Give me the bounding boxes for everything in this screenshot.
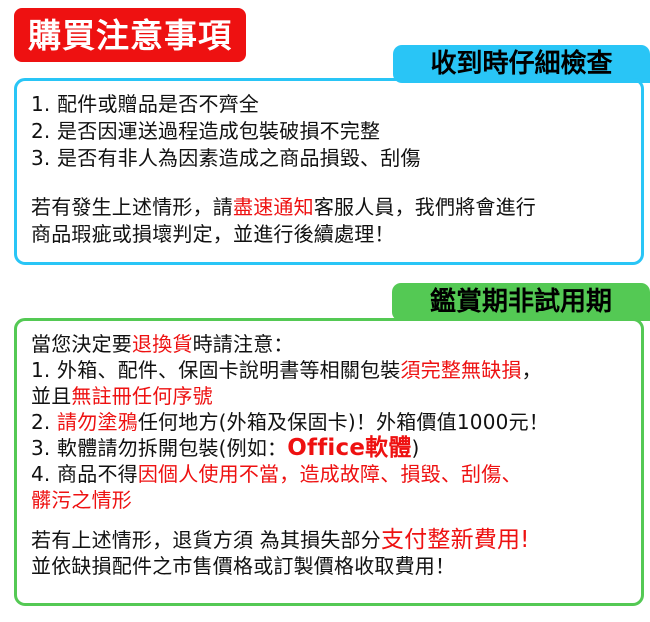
item1-highlight-1: 須完整無缺損	[400, 358, 521, 382]
intro-highlight: 退換貨	[132, 332, 193, 356]
inspection-note-line-2: 商品瑕疵或損壞判定，並進行後續處理！	[31, 221, 627, 248]
section-tag-trial-period: 鑑賞期非試用期	[392, 283, 650, 321]
footer-highlight: 支付整新費用!	[381, 527, 530, 553]
footer-text-a: 若有上述情形，退貨方須 為其損失部分	[31, 528, 381, 552]
page-title: 購買注意事項	[28, 19, 232, 52]
return-intro-line: 當您決定要退換貨時請注意：	[31, 331, 627, 357]
inspection-note-line-1: 若有發生上述情形，請盡速通知客服人員，我們將會進行	[31, 194, 627, 221]
section-tag-trial-period-label: 鑑賞期非試用期	[430, 289, 612, 315]
item1-text-b: ，	[522, 358, 542, 382]
note-text-b: 客服人員，我們將會進行	[314, 195, 536, 219]
note-highlight: 盡速通知	[233, 195, 314, 219]
item2-text-a: 2.	[31, 410, 57, 434]
intro-text-a: 當您決定要	[31, 332, 132, 356]
item3-text-a: 3. 軟體請勿拆開包裝(例如：	[31, 436, 287, 460]
return-item-1-line-2: 並且無註冊任何序號	[31, 383, 627, 409]
list-item: 3. 是否有非人為因素造成之商品損毀、刮傷	[31, 145, 627, 172]
intro-text-b: 時請注意：	[193, 332, 294, 356]
item2-highlight: 請勿塗鴉	[57, 410, 138, 434]
list-item: 1. 配件或贈品是否不齊全	[31, 91, 627, 118]
return-item-4-line-1: 4. 商品不得因個人使用不當，造成故障、損毀、刮傷、	[31, 461, 627, 487]
spacer	[31, 172, 627, 194]
return-item-4-line-2: 髒污之情形	[31, 487, 627, 513]
section-return-policy-content: 當您決定要退換貨時請注意： 1. 外箱、配件、保固卡說明書等相關包裝須完整無缺損…	[17, 321, 641, 579]
item1-text-a: 1. 外箱、配件、保固卡說明書等相關包裝	[31, 358, 400, 382]
return-footer-line-1: 若有上述情形，退貨方須 為其損失部分支付整新費用!	[31, 527, 627, 553]
section-box-return-policy: 當您決定要退換貨時請注意： 1. 外箱、配件、保固卡說明書等相關包裝須完整無缺損…	[14, 318, 644, 606]
return-item-1-line-1: 1. 外箱、配件、保固卡說明書等相關包裝須完整無缺損，	[31, 357, 627, 383]
item1-text-c: 並且	[31, 384, 71, 408]
section-inspection-content: 1. 配件或贈品是否不齊全 2. 是否因運送過程造成包裝破損不完整 3. 是否有…	[17, 81, 641, 248]
return-item-2: 2. 請勿塗鴉任何地方(外箱及保固卡)！外箱價值1000元！	[31, 409, 627, 435]
item4-highlight-1: 因個人使用不當，造成故障、損毀、刮傷、	[138, 462, 522, 486]
item3-text-b: )	[412, 436, 420, 460]
section-box-inspection: 1. 配件或贈品是否不齊全 2. 是否因運送過程造成包裝破損不完整 3. 是否有…	[14, 78, 644, 265]
spacer	[31, 513, 627, 527]
return-footer-line-2: 並依缺損配件之市售價格或訂製價格收取費用！	[31, 553, 627, 579]
item4-text-a: 4. 商品不得	[31, 462, 138, 486]
item2-text-b: 任何地方(外箱及保固卡)！外箱價值1000元！	[138, 410, 549, 434]
notice-page: 購買注意事項 收到時仔細檢查 1. 配件或贈品是否不齊全 2. 是否因運送過程造…	[0, 0, 650, 622]
item1-highlight-2: 無註冊任何序號	[71, 384, 212, 408]
item3-highlight: Office軟體	[287, 435, 411, 461]
item4-highlight-2: 髒污之情形	[31, 488, 132, 512]
section-tag-inspection-label: 收到時仔細檢查	[430, 51, 612, 77]
note-text-a: 若有發生上述情形，請	[31, 195, 233, 219]
list-item: 2. 是否因運送過程造成包裝破損不完整	[31, 118, 627, 145]
page-title-badge: 購買注意事項	[14, 8, 246, 62]
return-item-3: 3. 軟體請勿拆開包裝(例如：Office軟體)	[31, 435, 627, 461]
